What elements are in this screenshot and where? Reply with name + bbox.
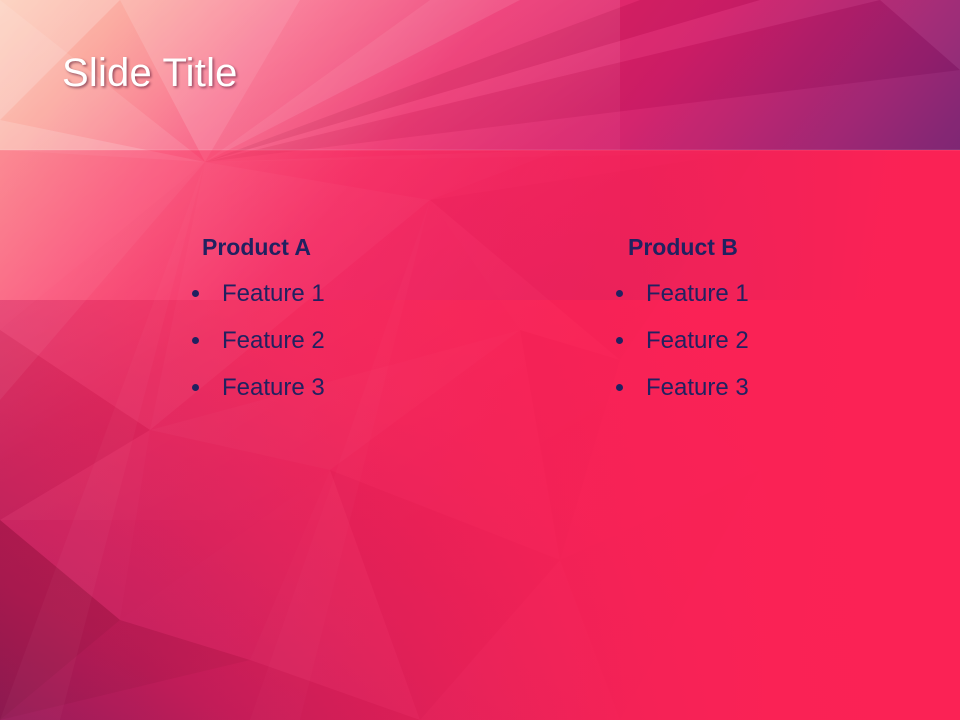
slide-canvas: Slide Title Product A Feature 1 Feature … bbox=[0, 0, 960, 720]
list-item-label: Feature 2 bbox=[646, 327, 749, 354]
slide-title: Slide Title bbox=[62, 44, 762, 102]
title-placeholder[interactable]: Slide Title bbox=[62, 44, 762, 106]
bullet-dot-icon bbox=[192, 384, 199, 391]
bullet-dot-icon bbox=[192, 290, 199, 297]
list-item[interactable]: Feature 3 bbox=[605, 364, 960, 411]
list-item-label: Feature 1 bbox=[646, 280, 749, 307]
content-column-product-a[interactable]: Product A Feature 1 Feature 2 Feature 3 bbox=[180, 232, 560, 411]
bullet-dot-icon bbox=[616, 290, 623, 297]
list-item[interactable]: Feature 2 bbox=[180, 317, 560, 364]
list-item[interactable]: Feature 3 bbox=[180, 364, 560, 411]
bullet-list-product-b: Feature 1 Feature 2 Feature 3 bbox=[605, 270, 960, 411]
column-heading-product-a: Product A bbox=[180, 232, 560, 262]
list-item-label: Feature 1 bbox=[222, 280, 325, 307]
list-item[interactable]: Feature 2 bbox=[605, 317, 960, 364]
list-item-label: Feature 2 bbox=[222, 327, 325, 354]
list-item[interactable]: Feature 1 bbox=[180, 270, 560, 317]
bullet-list-product-a: Feature 1 Feature 2 Feature 3 bbox=[180, 270, 560, 411]
bullet-dot-icon bbox=[192, 337, 199, 344]
bullet-dot-icon bbox=[616, 337, 623, 344]
content-area: Product A Feature 1 Feature 2 Feature 3 … bbox=[0, 232, 960, 432]
list-item[interactable]: Feature 1 bbox=[605, 270, 960, 317]
column-heading-product-b: Product B bbox=[605, 232, 960, 262]
content-column-product-b[interactable]: Product B Feature 1 Feature 2 Feature 3 bbox=[605, 232, 960, 411]
bullet-dot-icon bbox=[616, 384, 623, 391]
list-item-label: Feature 3 bbox=[222, 374, 325, 401]
list-item-label: Feature 3 bbox=[646, 374, 749, 401]
